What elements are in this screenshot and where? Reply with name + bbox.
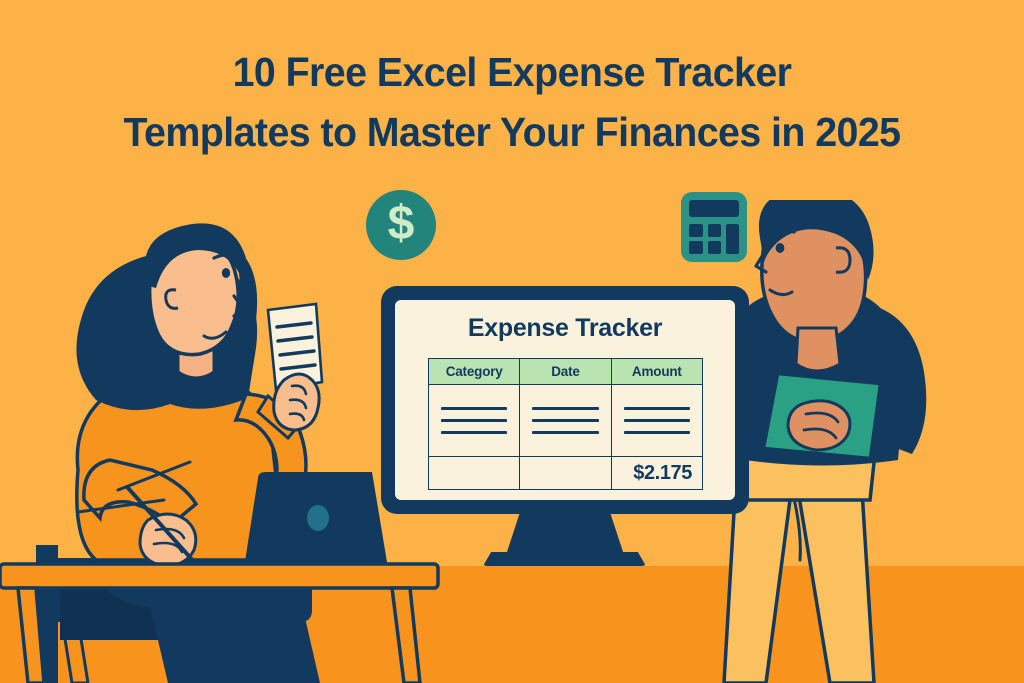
table-row <box>429 385 703 457</box>
placeholder-line <box>532 431 598 434</box>
illustration-canvas: 10 Free Excel Expense Tracker Templates … <box>0 0 1024 683</box>
monitor-stand-neck <box>505 514 625 558</box>
column-header-category: Category <box>429 359 520 385</box>
placeholder-line <box>532 419 598 422</box>
column-header-date: Date <box>520 359 611 385</box>
placeholder-line <box>624 419 690 422</box>
cell-date-placeholder <box>520 385 611 457</box>
placeholder-line <box>441 407 507 410</box>
cell-category-placeholder <box>429 385 520 457</box>
column-header-amount: Amount <box>611 359 702 385</box>
placeholder-line <box>441 431 507 434</box>
expense-table: Category Date Amount <box>428 358 703 490</box>
placeholder-line <box>624 431 690 434</box>
screen-title: Expense Tracker <box>395 314 735 343</box>
total-cell-date <box>520 457 611 490</box>
placeholder-line <box>441 419 507 422</box>
total-cell-amount: $2.175 <box>611 457 702 490</box>
table-header-row: Category Date Amount <box>429 359 703 385</box>
placeholder-line <box>532 407 598 410</box>
total-cell-category <box>429 457 520 490</box>
placeholder-line <box>624 407 690 410</box>
cell-amount-placeholder <box>611 385 702 457</box>
table-total-row: $2.175 <box>429 457 703 490</box>
monitor: Expense Tracker Category Date Amount <box>381 286 749 514</box>
monitor-screen: Expense Tracker Category Date Amount <box>395 300 735 500</box>
monitor-stand-base <box>483 552 646 566</box>
